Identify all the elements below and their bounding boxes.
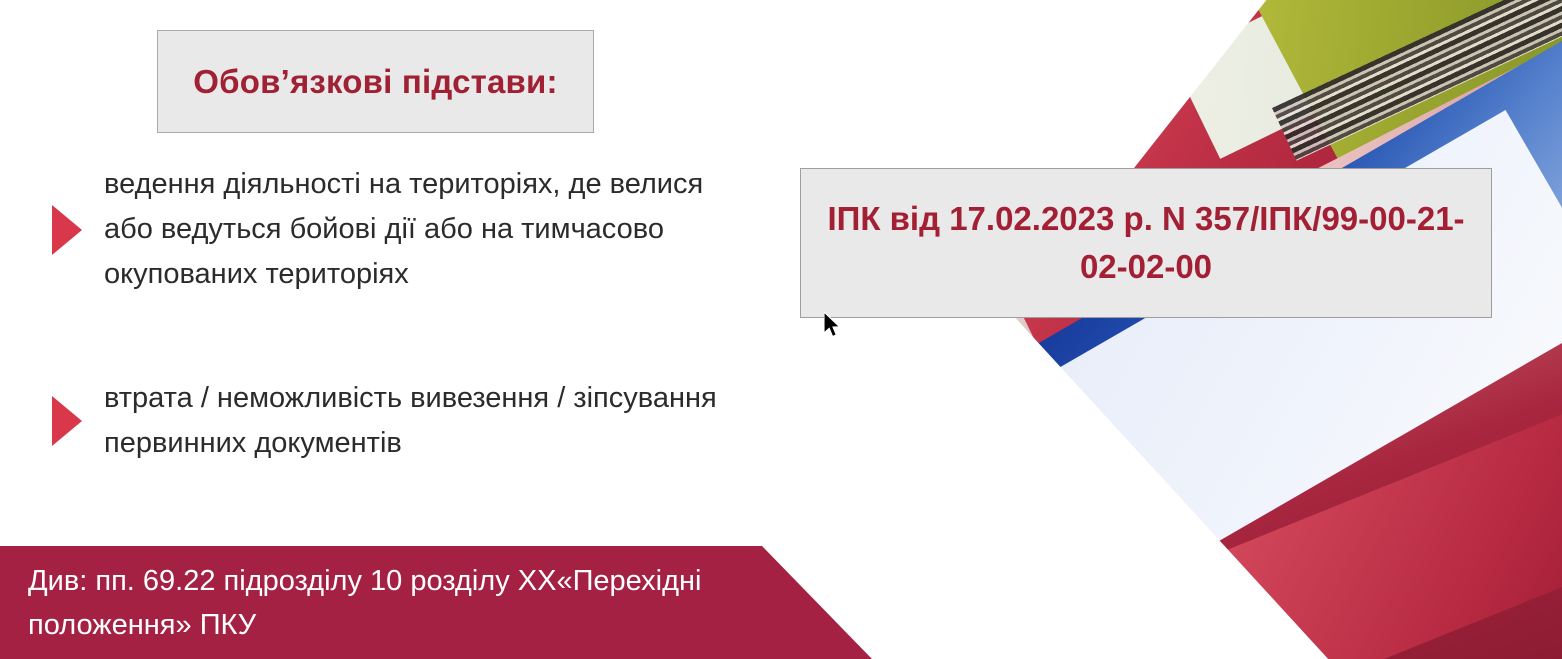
photo-base-layer: [1002, 0, 1562, 659]
footer-banner-label: Див: пп. 69.22 підрозділу 10 розділу XX«…: [0, 559, 760, 647]
photo-bottom-red-folder: [1202, 373, 1562, 659]
photo-pale-sheet: [1172, 0, 1562, 159]
photo-diagonal-mask-bottom: [1002, 301, 1420, 659]
document-folders-photo: [1002, 0, 1562, 659]
triangle-right-icon: [52, 205, 82, 255]
footer-banner: Див: пп. 69.22 підрозділу 10 розділу XX«…: [0, 546, 880, 659]
list-item-label: ведення діяльності на територіях, де вел…: [104, 162, 752, 297]
triangle-right-icon: [52, 396, 82, 446]
heading-box: Обов’язкові підстави:: [157, 30, 594, 133]
callout-text: ІПК від 17.02.2023 р. N 357/ІПК/99-00-21…: [819, 195, 1473, 291]
callout-box: ІПК від 17.02.2023 р. N 357/ІПК/99-00-21…: [800, 168, 1492, 318]
photo-olive-folder: [1232, 0, 1562, 163]
photo-dark-paper-stack: [1272, 0, 1562, 161]
slide-canvas: Обов’язкові підстави: ведення діяльності…: [0, 0, 1562, 659]
list-item: ведення діяльності на територіях, де вел…: [52, 162, 752, 297]
list-item: втрата / неможливість вивезення / зіпсув…: [52, 376, 752, 466]
list-item-label: втрата / неможливість вивезення / зіпсув…: [104, 376, 752, 466]
page-title: Обов’язкові підстави:: [193, 63, 557, 101]
